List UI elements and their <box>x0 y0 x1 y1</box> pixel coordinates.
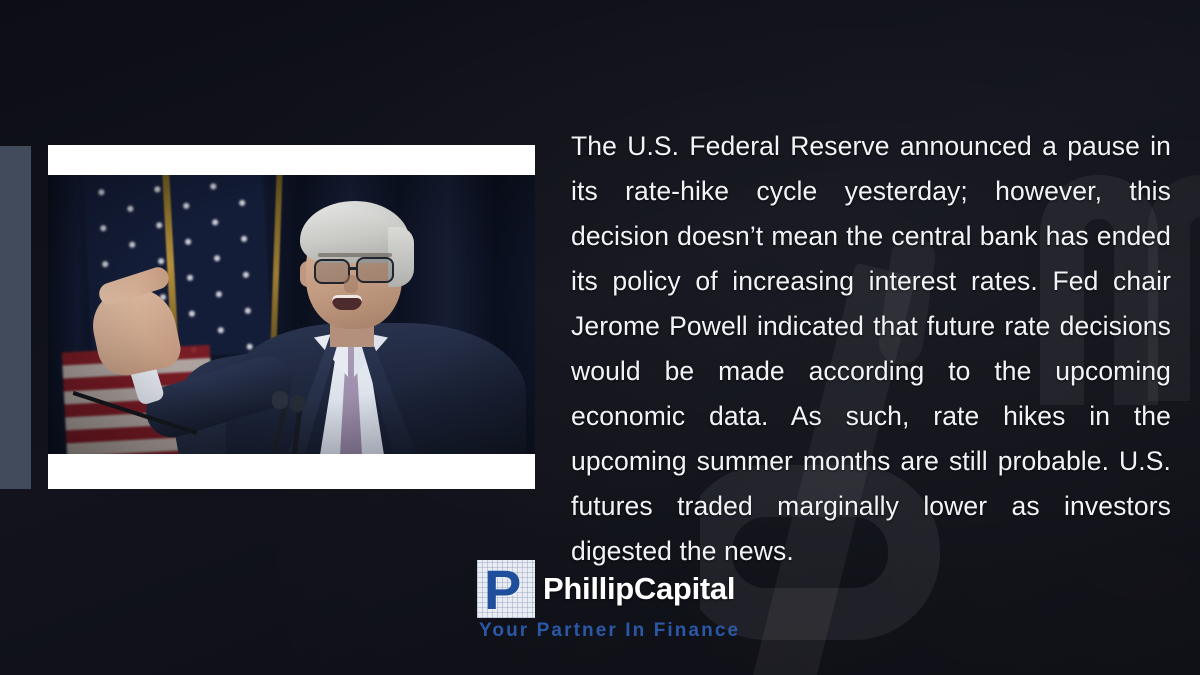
accent-bar <box>0 146 31 489</box>
photo-frame <box>48 145 535 489</box>
news-card: The U.S. Federal Reserve announced a pau… <box>0 0 1200 675</box>
logo-tagline: Your Partner In Finance <box>479 620 740 642</box>
article-body-text: The U.S. Federal Reserve announced a pau… <box>571 124 1171 574</box>
logo-letter-p: P <box>484 563 521 617</box>
photo-vignette <box>48 175 535 454</box>
phillipcapital-p-mark-icon: P <box>477 560 535 618</box>
logo-wordmark: PhillipCapital <box>543 573 735 605</box>
powell-press-conference-photo <box>48 175 535 454</box>
logo-primary-row: P PhillipCapital <box>477 560 735 618</box>
phillipcapital-logo: P PhillipCapital Your Partner In Finance <box>477 560 740 642</box>
